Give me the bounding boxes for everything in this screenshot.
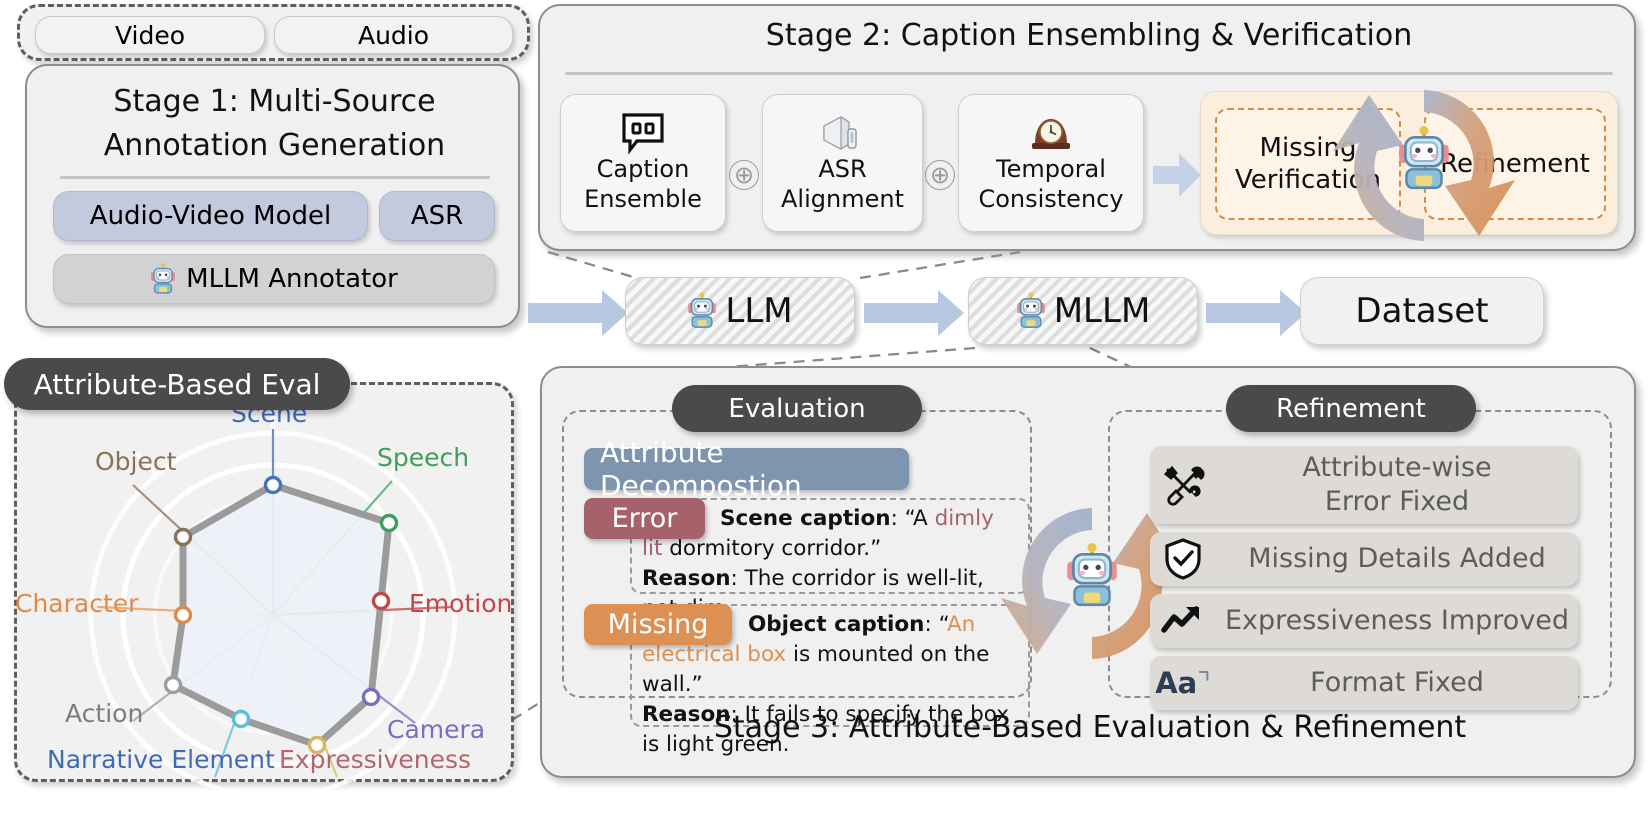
stage2-card-caption-ensemble[interactable]: Caption Ensemble bbox=[560, 94, 726, 232]
robot-icon bbox=[1397, 126, 1451, 192]
text-format-icon: Aa⌝ bbox=[1150, 666, 1216, 700]
stage2-title: Stage 2: Caption Ensembling & Verificati… bbox=[560, 18, 1618, 53]
missing-badge-label: Missing bbox=[608, 609, 709, 640]
stage1-mllm-annotator-label: MLLM Annotator bbox=[186, 264, 398, 294]
source-audio[interactable]: Audio bbox=[274, 16, 513, 54]
arrow-into-verification-loop bbox=[1153, 153, 1201, 197]
missing-badge: Missing bbox=[584, 604, 732, 645]
radar-label-emotion: Emotion bbox=[409, 589, 512, 618]
stage2-card-asr-alignment-line2: Alignment bbox=[781, 184, 904, 214]
error-badge-label: Error bbox=[612, 503, 678, 534]
stage3-evaluation-tag-label: Evaluation bbox=[728, 394, 865, 424]
attribute-based-eval-panel: Scene Speech Emotion Camera Expressivene… bbox=[14, 382, 514, 782]
source-video[interactable]: Video bbox=[35, 16, 265, 54]
arrow-mllm-to-dataset bbox=[1206, 290, 1306, 336]
pipeline-mllm-label: MLLM bbox=[1054, 291, 1151, 331]
stage2-card-asr-alignment[interactable]: ASR Alignment bbox=[762, 94, 923, 232]
attribute-based-eval-tag-label: Attribute-Based Eval bbox=[34, 368, 321, 401]
attribute-decomposition-bar[interactable]: Attribute Decompostion bbox=[584, 448, 909, 490]
stage2-panel: Stage 2: Caption Ensembling & Verificati… bbox=[538, 4, 1636, 251]
stage3-title: Stage 3: Attribute-Based Evaluation & Re… bbox=[562, 710, 1618, 745]
shield-check-icon bbox=[1150, 537, 1216, 581]
stage2-card-caption-ensemble-line2: Ensemble bbox=[584, 184, 702, 214]
refinement-row-expressiveness-improved[interactable]: Expressiveness Improved bbox=[1150, 594, 1578, 648]
stage2-verification-refinement-loop: Missing Verification Refinement bbox=[1200, 91, 1618, 235]
source-inputs-group: Video Audio bbox=[17, 4, 530, 61]
stage1-title-line2: Annotation Generation bbox=[57, 124, 492, 168]
refinement-row-1-line2: Error Fixed bbox=[1216, 485, 1578, 519]
attribute-decomposition-label: Attribute Decompostion bbox=[600, 436, 909, 502]
attribute-based-eval-tag: Attribute-Based Eval bbox=[4, 358, 350, 410]
refinement-row-format-fixed[interactable]: Aa⌝ Format Fixed bbox=[1150, 656, 1578, 710]
source-audio-label: Audio bbox=[358, 21, 429, 50]
stage1-asr[interactable]: ASR bbox=[379, 191, 495, 241]
pipeline-dataset[interactable]: Dataset bbox=[1300, 277, 1544, 345]
stage3-evaluation-tag: Evaluation bbox=[672, 385, 922, 432]
robot-icon bbox=[150, 263, 176, 295]
radar-label-camera: Camera bbox=[387, 715, 485, 744]
stage1-audio-video-model-label: Audio-Video Model bbox=[90, 201, 331, 231]
robot-icon bbox=[687, 292, 717, 330]
stage1-mllm-annotator[interactable]: MLLM Annotator bbox=[53, 254, 495, 304]
missing-caption-open: : “ bbox=[925, 612, 947, 637]
robot-icon bbox=[1065, 543, 1119, 609]
pipeline-llm[interactable]: LLM bbox=[625, 277, 855, 345]
source-video-label: Video bbox=[115, 21, 185, 50]
stage1-title-line1: Stage 1: Multi-Source bbox=[57, 80, 492, 124]
stage1-asr-label: ASR bbox=[411, 201, 463, 231]
operator-plus-1: ⊕ bbox=[729, 160, 759, 190]
closed-caption-icon bbox=[620, 112, 666, 154]
radar-label-action: Action bbox=[65, 699, 143, 728]
operator-plus-2: ⊕ bbox=[925, 160, 955, 190]
stage1-title: Stage 1: Multi-Source Annotation Generat… bbox=[57, 80, 492, 168]
radar-label-speech: Speech bbox=[377, 443, 469, 472]
stage3-refinement-tag-label: Refinement bbox=[1276, 394, 1426, 424]
stage2-card-asr-alignment-line1: ASR bbox=[818, 154, 866, 184]
stage1-panel: Stage 1: Multi-Source Annotation Generat… bbox=[25, 64, 520, 328]
radar-label-narrative-element: Narrative Element bbox=[47, 745, 275, 774]
pipeline-mllm[interactable]: MLLM bbox=[968, 277, 1198, 345]
stage2-card-temporal-consistency-line2: Consistency bbox=[978, 184, 1123, 214]
error-reason-label: Reason bbox=[642, 566, 731, 591]
mantel-clock-icon bbox=[1028, 112, 1074, 154]
refinement-row-2-label: Missing Details Added bbox=[1216, 542, 1578, 576]
refinement-row-1-label: Attribute-wise Error Fixed bbox=[1216, 451, 1578, 519]
stage1-divider bbox=[60, 176, 490, 179]
pipeline-dataset-label: Dataset bbox=[1355, 291, 1488, 331]
stage1-audio-video-model[interactable]: Audio-Video Model bbox=[53, 191, 368, 241]
refinement-row-4-label: Format Fixed bbox=[1216, 666, 1578, 700]
stage2-card-caption-ensemble-line1: Caption bbox=[597, 154, 690, 184]
refinement-row-3-label: Expressiveness Improved bbox=[1216, 604, 1578, 638]
error-caption-label: Scene caption bbox=[720, 506, 891, 531]
error-badge: Error bbox=[584, 498, 705, 539]
missing-caption-label: Object caption bbox=[748, 612, 925, 637]
stage3-panel: Evaluation Refinement Attribute Decompos… bbox=[540, 366, 1636, 778]
radar-label-character: Character bbox=[15, 589, 138, 618]
robot-icon bbox=[1016, 292, 1046, 330]
arrow-stage1-to-llm bbox=[528, 290, 628, 336]
error-caption-rest: dormitory corridor.” bbox=[662, 536, 881, 561]
stage2-card-temporal-consistency-line1: Temporal bbox=[996, 154, 1106, 184]
megaphone-icon bbox=[819, 112, 867, 154]
stage2-card-temporal-consistency[interactable]: Temporal Consistency bbox=[958, 94, 1144, 232]
radar-label-expressiveness: Expressiveness bbox=[279, 745, 471, 774]
refinement-row-1-line1: Attribute-wise bbox=[1216, 451, 1578, 485]
pipeline-llm-label: LLM bbox=[725, 291, 792, 331]
refinement-row-missing-details-added[interactable]: Missing Details Added bbox=[1150, 532, 1578, 586]
tools-icon bbox=[1150, 462, 1216, 508]
radar-axis-labels: Scene Speech Emotion Camera Expressivene… bbox=[17, 385, 513, 781]
radar-label-object: Object bbox=[95, 447, 176, 476]
refinement-row-attribute-wise-error-fixed[interactable]: Attribute-wise Error Fixed bbox=[1150, 446, 1578, 524]
trend-up-icon bbox=[1150, 603, 1216, 639]
arrow-llm-to-mllm bbox=[864, 290, 964, 336]
error-caption-open: : “A bbox=[891, 506, 935, 531]
stage3-refinement-tag: Refinement bbox=[1226, 385, 1476, 432]
